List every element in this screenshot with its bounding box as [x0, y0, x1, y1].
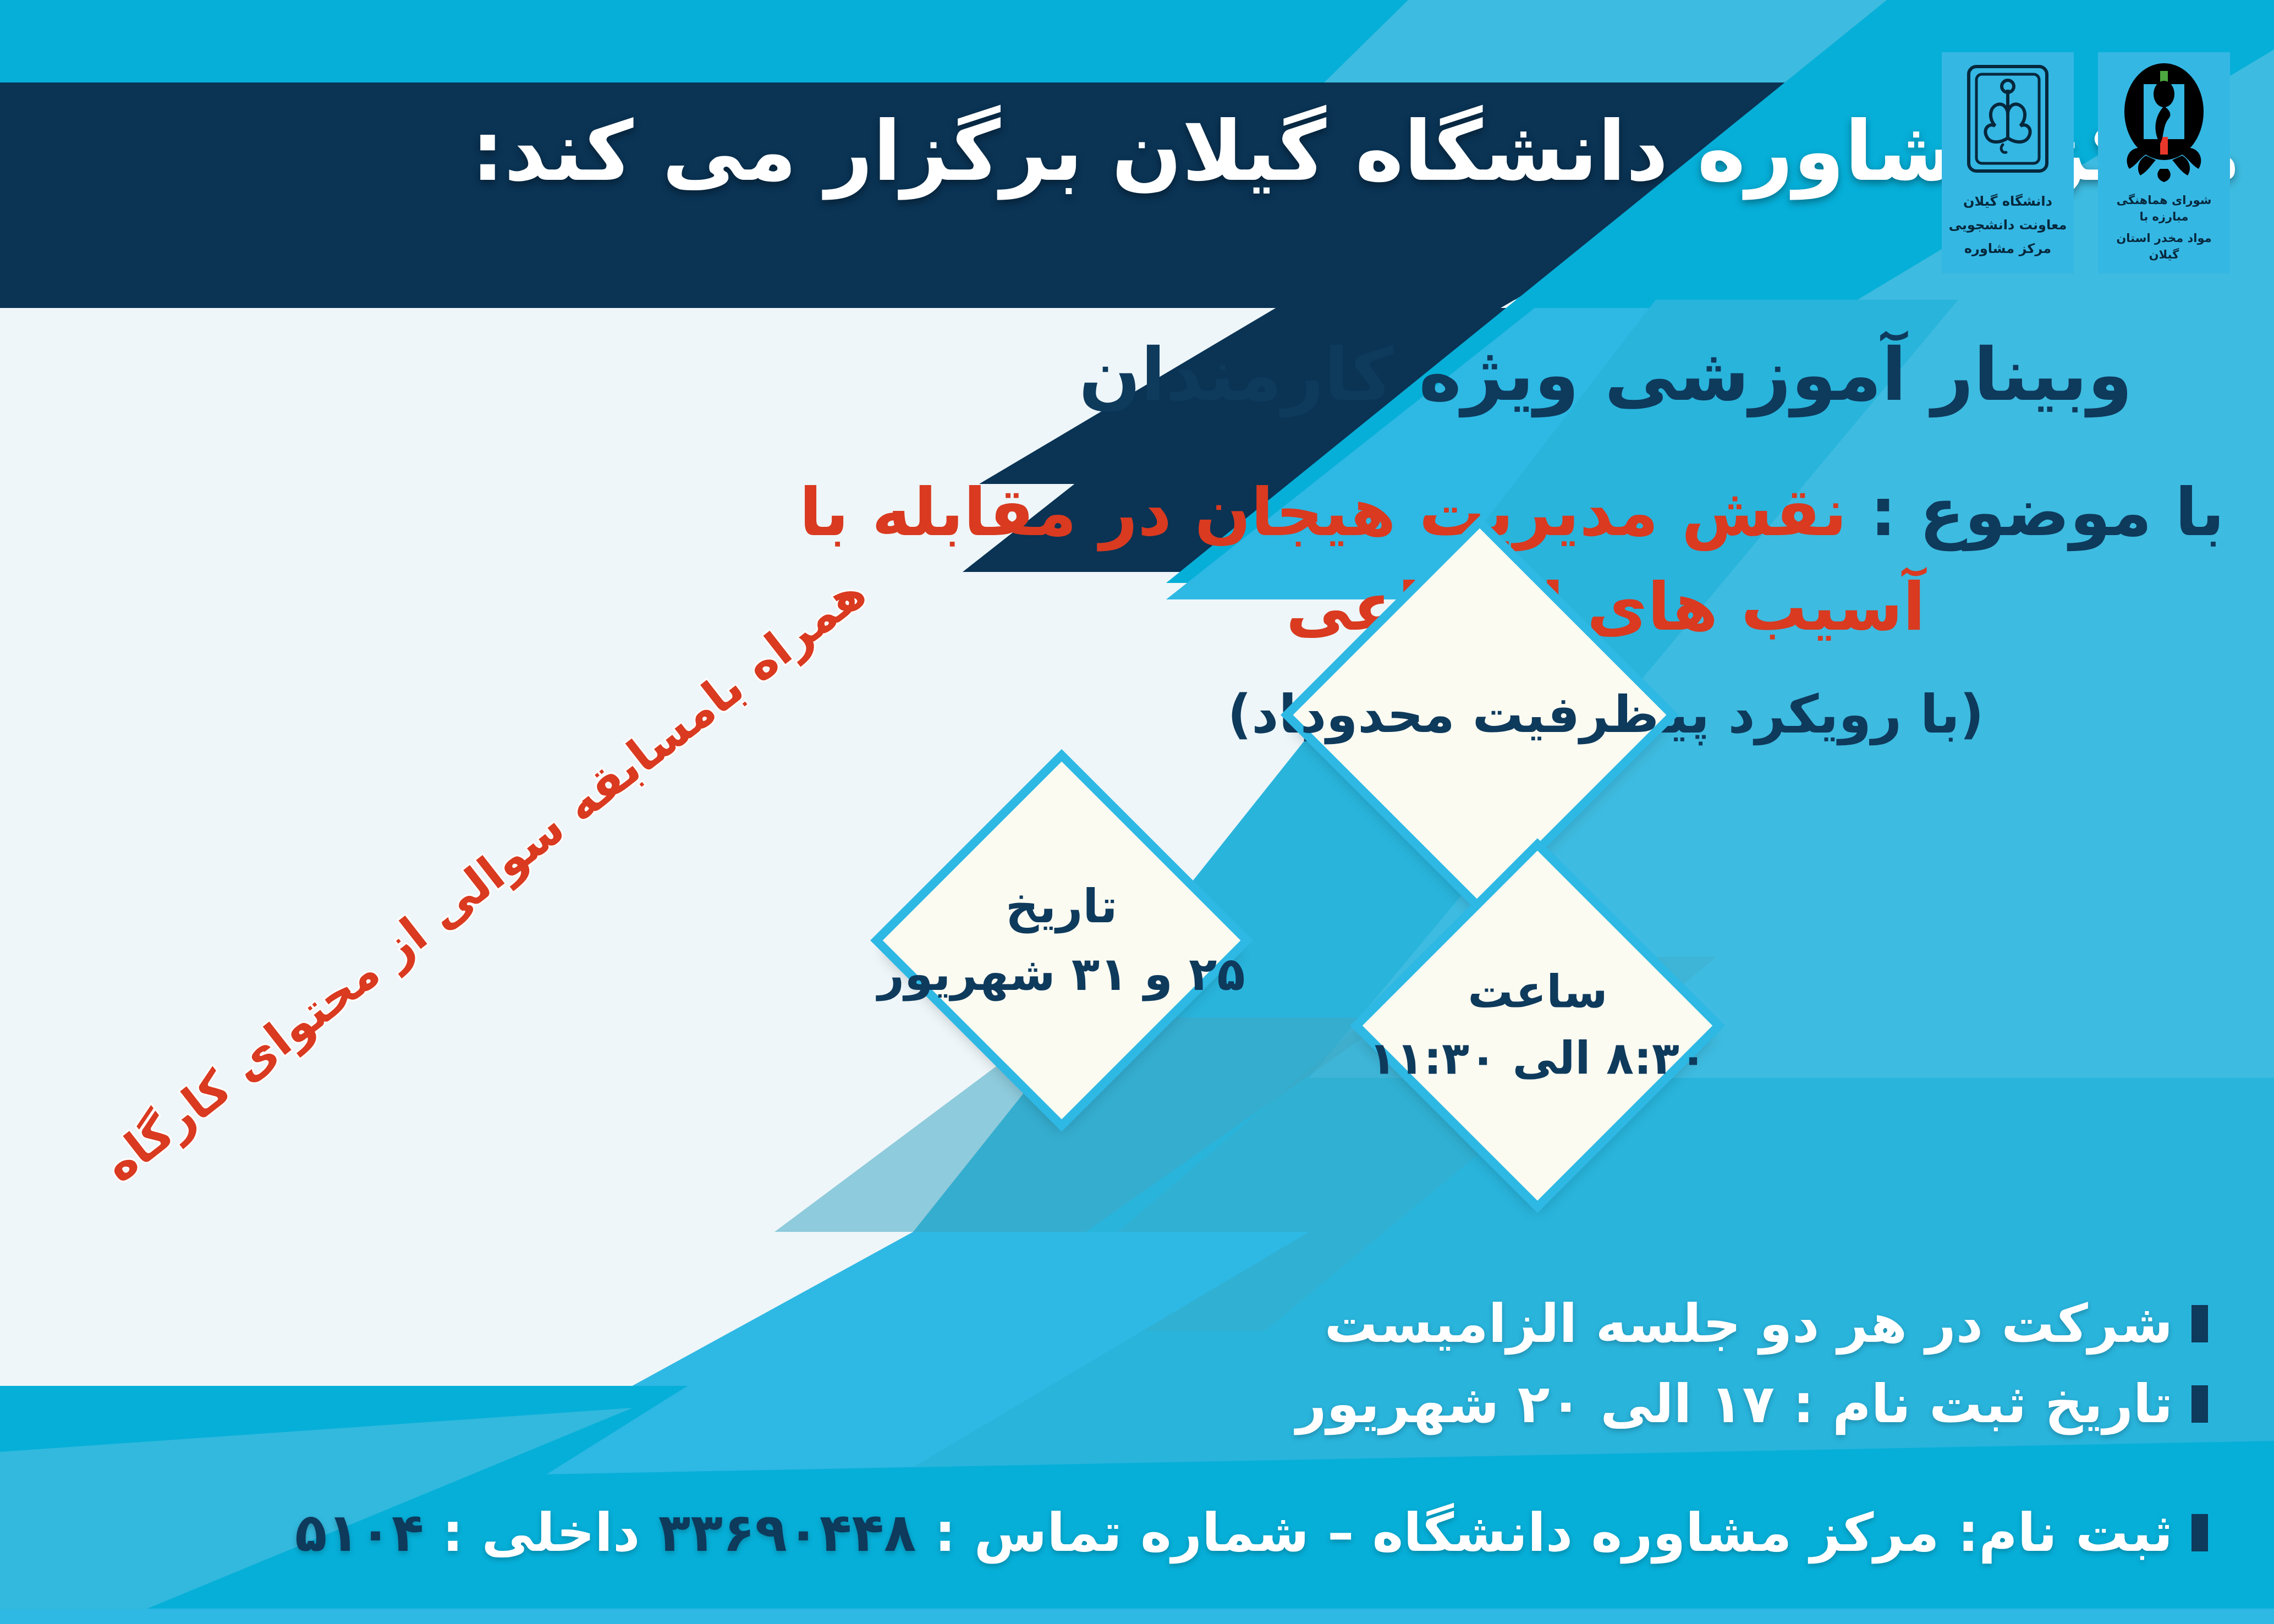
bullet-square-icon: [2191, 1305, 2208, 1342]
registration-prefix: ثبت نام: مرکز مشاوره دانشگاه – شماره تما…: [935, 1502, 2173, 1564]
registration-contact-row: ثبت نام: مرکز مشاوره دانشگاه – شماره تما…: [295, 1502, 2208, 1564]
university-of-guilan-logo: دانشگاه گیلان معاونت دانشجویی مرکز مشاور…: [1942, 52, 2074, 273]
subject-line-2: آسیب های اجتماعی: [987, 565, 2224, 651]
subject-line-1: با موضوع : نقش مدیریت هیجان در مقابله با: [987, 470, 2224, 556]
bullet-item: شرکت در هر دو جلسه الزامیست: [1296, 1293, 2208, 1355]
date-diamond-content: تاریخ ۲۵ و ۳۱ شهریور: [878, 876, 1245, 1006]
registration-contact-text: ثبت نام: مرکز مشاوره دانشگاه – شماره تما…: [295, 1502, 2173, 1564]
extension-label: داخلی :: [442, 1502, 640, 1564]
bullet-list: شرکت در هر دو جلسه الزامیست تاریخ ثبت نا…: [1296, 1293, 2208, 1454]
bullet-text: تاریخ ثبت نام : ۱۷ الی ۲۰ شهریور: [1296, 1373, 2173, 1435]
logo-caption-line-2: مواد مخدر استان گیلان: [2103, 230, 2224, 263]
time-diamond-content: ساعت ۸:۳۰ الی ۱۱:۳۰: [1369, 962, 1707, 1089]
bg-bottom-edge: [0, 1609, 2274, 1624]
logo-caption-line-3: مرکز مشاوره: [1964, 239, 2051, 258]
guilan-university-emblem-icon: [1956, 61, 2060, 188]
capacity-diamond-content: ظرفیت محدود: [1300, 681, 1659, 749]
time-value: ۸:۳۰ الی ۱۱:۳۰: [1369, 1028, 1707, 1089]
subject-text-part-1: نقش مدیریت هیجان در مقابله با: [799, 475, 1847, 551]
logo-row: شورای هماهنگی مبارزه با مواد مخدر استان …: [1942, 52, 2230, 273]
webinar-title: وبینار آموزشی ویژه کارمندان: [987, 330, 2224, 421]
logo-caption-line-1: دانشگاه گیلان: [1963, 192, 2052, 211]
contact-phone-number: ۳۳۶۹۰۴۴۸: [658, 1502, 916, 1564]
subject-label: با موضوع :: [1870, 475, 2224, 551]
anti-narcotics-emblem-icon: [2112, 61, 2216, 188]
date-label: تاریخ: [1006, 879, 1118, 933]
webinar-poster: مرکز مشاوره دانشگاه گیلان برگزار می کند:…: [0, 0, 2274, 1624]
date-value: ۲۵ و ۳۱ شهریور: [878, 943, 1245, 1005]
bullet-square-icon: [2191, 1514, 2208, 1551]
time-label: ساعت: [1468, 966, 1607, 1018]
capacity-line-1: ظرفیت محدود: [1300, 685, 1659, 744]
anti-narcotics-council-logo: شورای هماهنگی مبارزه با مواد مخدر استان …: [2098, 52, 2230, 273]
header-band: مرکز مشاوره دانشگاه گیلان برگزار می کند:: [0, 82, 2274, 302]
logo-caption-line-1: شورای هماهنگی مبارزه با: [2103, 192, 2224, 225]
contact-extension: ۵۱۰۴: [295, 1502, 424, 1564]
bullet-item: تاریخ ثبت نام : ۱۷ الی ۲۰ شهریور: [1296, 1373, 2208, 1435]
bullet-text: شرکت در هر دو جلسه الزامیست: [1325, 1293, 2173, 1355]
bullet-square-icon: [2191, 1385, 2208, 1423]
logo-caption-line-2: معاونت دانشجویی: [1949, 216, 2067, 235]
